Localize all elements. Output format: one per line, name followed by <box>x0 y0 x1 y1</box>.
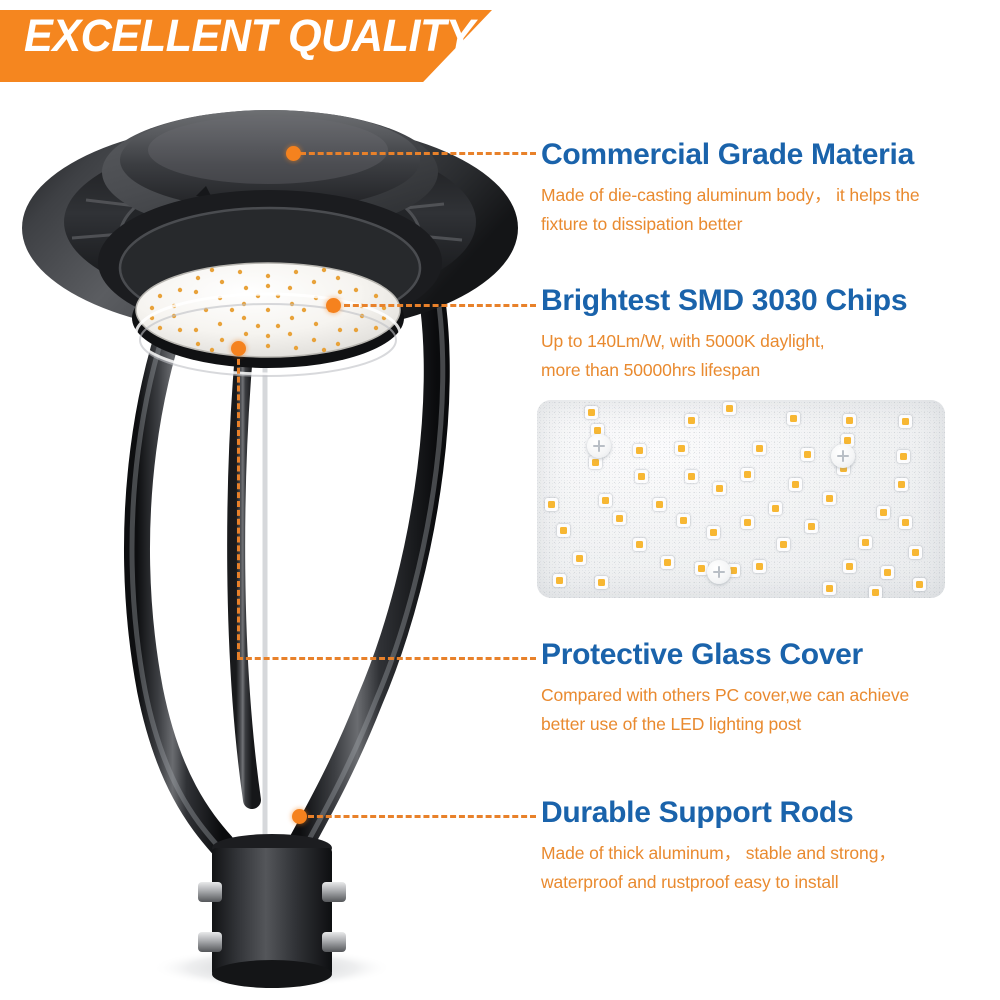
smd-led-chip <box>909 546 922 559</box>
smd-led-chip <box>801 448 814 461</box>
smd-led-chip <box>843 414 856 427</box>
leader-dot-3 <box>231 341 246 356</box>
feature-durable-support-rods: Durable Support Rods Made of thick alumi… <box>541 794 991 897</box>
led-board-inset-image <box>537 400 945 598</box>
feature-body-line: better use of the LED lighting post <box>541 710 991 739</box>
smd-led-chip <box>573 552 586 565</box>
smd-led-chip <box>595 576 608 589</box>
smd-led-chip <box>741 468 754 481</box>
leader-line-1 <box>300 152 536 155</box>
smd-led-chip <box>723 402 736 415</box>
smd-led-chip <box>913 578 926 591</box>
screw-hole-icon <box>831 444 855 468</box>
feature-body: Made of die-casting aluminum body， it he… <box>541 181 991 239</box>
smd-led-chip <box>685 470 698 483</box>
smd-led-chip <box>789 478 802 491</box>
feature-title: Commercial Grade Materia <box>541 136 991 174</box>
screw-hole-icon <box>587 434 611 458</box>
smd-led-chip <box>653 498 666 511</box>
smd-led-chip <box>545 498 558 511</box>
feature-body-line: Up to 140Lm/W, with 5000K daylight, <box>541 327 991 356</box>
smd-led-chip <box>713 482 726 495</box>
feature-body-line: more than 50000hrs lifespan <box>541 356 991 385</box>
smd-led-chip <box>859 536 872 549</box>
leader-line-2 <box>344 304 536 307</box>
smd-led-chip <box>787 412 800 425</box>
feature-protective-glass-cover: Protective Glass Cover Compared with oth… <box>541 636 991 739</box>
feature-body: Made of thick aluminum， stable and stron… <box>541 839 991 897</box>
feature-body: Compared with others PC cover,we can ach… <box>541 681 991 739</box>
smd-led-chip <box>585 406 598 419</box>
smd-led-chip <box>823 582 836 595</box>
smd-led-chip <box>805 520 818 533</box>
smd-led-chip <box>843 560 856 573</box>
feature-title: Durable Support Rods <box>541 794 991 832</box>
smd-led-chip <box>677 514 690 527</box>
smd-led-chip <box>823 492 836 505</box>
feature-title: Protective Glass Cover <box>541 636 991 674</box>
feature-body-line: Made of die-casting aluminum body， it he… <box>541 181 991 210</box>
leader-line-3-horizontal <box>237 657 536 660</box>
smd-led-chip <box>599 494 612 507</box>
leader-dot-4 <box>292 809 307 824</box>
smd-led-chip <box>881 566 894 579</box>
feature-body-line: fixture to dissipation better <box>541 210 991 239</box>
smd-led-chip <box>675 442 688 455</box>
smd-led-chip <box>869 586 882 598</box>
pole-mount-collar <box>198 834 346 988</box>
smd-led-chip <box>707 526 720 539</box>
smd-led-chip <box>633 444 646 457</box>
feature-body: Up to 140Lm/W, with 5000K daylight, more… <box>541 327 991 385</box>
smd-led-chip <box>877 506 890 519</box>
smd-led-chip <box>635 470 648 483</box>
smd-led-chip <box>553 574 566 587</box>
smd-led-chip <box>899 516 912 529</box>
smd-led-chip <box>685 414 698 427</box>
feature-body-line: Compared with others PC cover,we can ach… <box>541 681 991 710</box>
smd-led-chip <box>661 556 674 569</box>
smd-led-chip <box>769 502 782 515</box>
smd-led-chip <box>633 538 646 551</box>
smd-led-chip <box>777 538 790 551</box>
leader-line-3-vertical <box>237 350 240 658</box>
smd-led-chip <box>897 450 910 463</box>
screw-hole-icon <box>707 560 731 584</box>
smd-led-chip <box>557 524 570 537</box>
smd-led-chip <box>899 415 912 428</box>
smd-led-chip <box>895 478 908 491</box>
product-illustration <box>0 0 540 1000</box>
feature-brightest-smd-3030-chips: Brightest SMD 3030 Chips Up to 140Lm/W, … <box>541 282 991 385</box>
smd-led-chip <box>753 560 766 573</box>
product-infographic: EXCELLENT QUALITY <box>0 0 1000 1000</box>
feature-body-line: Made of thick aluminum， stable and stron… <box>541 839 991 868</box>
smd-led-chip <box>753 442 766 455</box>
smd-led-chip <box>613 512 626 525</box>
smd-led-chip <box>741 516 754 529</box>
feature-commercial-grade-material: Commercial Grade Materia Made of die-cas… <box>541 136 991 239</box>
feature-title: Brightest SMD 3030 Chips <box>541 282 991 320</box>
leader-line-4 <box>308 815 536 818</box>
leader-dot-2 <box>326 298 341 313</box>
leader-dot-1 <box>286 146 301 161</box>
feature-body-line: waterproof and rustproof easy to install <box>541 868 991 897</box>
